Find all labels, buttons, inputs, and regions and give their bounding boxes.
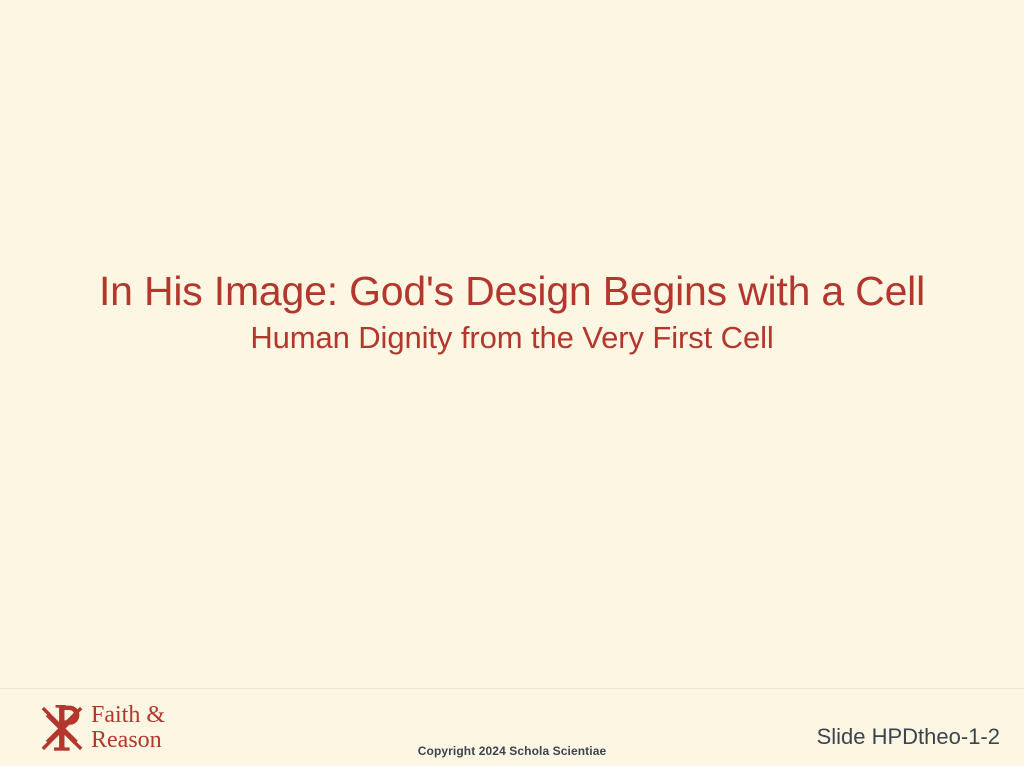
slide-number: Slide HPDtheo-1-2 (817, 724, 1000, 750)
page-title: In His Image: God's Design Begins with a… (0, 268, 1024, 314)
brand-wordmark-line1: Faith & (91, 703, 165, 727)
title-block: In His Image: God's Design Begins with a… (0, 268, 1024, 356)
presentation-slide: In His Image: God's Design Begins with a… (0, 0, 1024, 766)
slide-footer: Faith & Reason Copyright 2024 Schola Sci… (0, 689, 1024, 766)
page-subtitle: Human Dignity from the Very First Cell (0, 320, 1024, 356)
